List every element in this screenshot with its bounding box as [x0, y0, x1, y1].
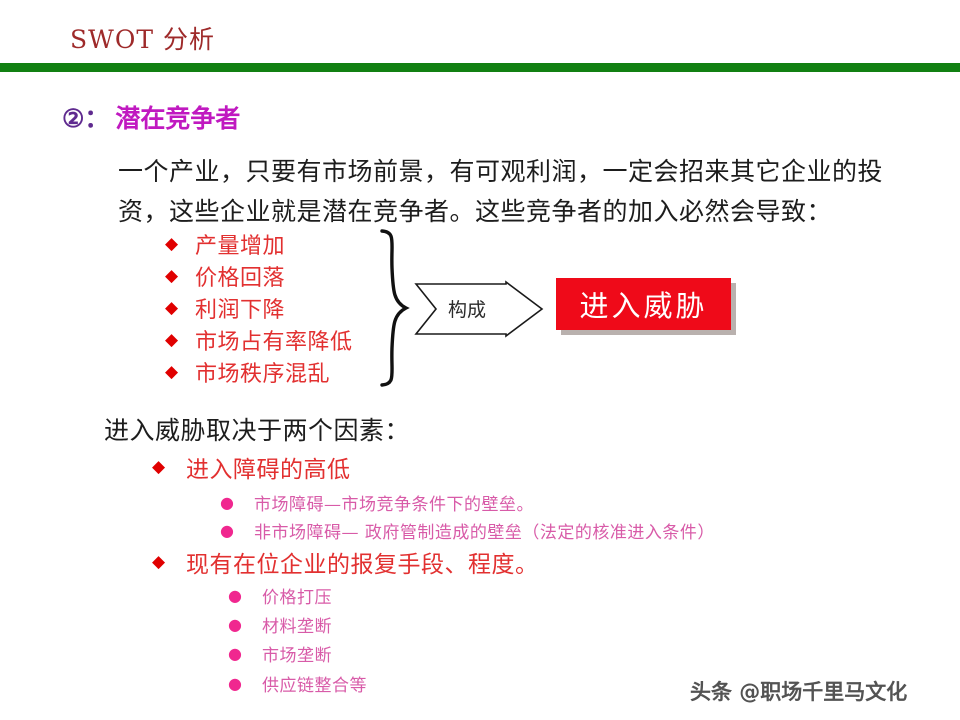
list-item: ◆ 利润下降	[165, 292, 405, 324]
list-item-label: 利润下降	[195, 292, 285, 324]
diamond-bullet-icon: ◆	[165, 332, 195, 349]
circle-bullet-icon: ●	[228, 646, 262, 662]
factor-item-label: 进入障碍的高低	[186, 450, 351, 484]
circle-bullet-icon: ●	[220, 523, 254, 539]
diamond-bullet-icon: ◆	[165, 236, 195, 253]
watermark: 头条 @职场千里马文化	[690, 676, 907, 706]
curly-brace-icon	[378, 228, 412, 388]
sub-list-item: ● 价格打压	[228, 583, 332, 608]
list-item-label: 市场占有率降低	[195, 324, 353, 356]
diamond-bullet-icon: ◆	[165, 364, 195, 381]
factor-item: ◆ 进入障碍的高低	[152, 450, 351, 484]
diamond-bullet-icon: ◆	[152, 459, 186, 476]
circle-bullet-icon: ●	[220, 495, 254, 511]
list-item-label: 产量增加	[195, 228, 285, 260]
circle-bullet-icon: ●	[228, 588, 262, 604]
sub-list-item: ● 市场垄断	[228, 641, 332, 666]
sub-list-item: ● 市场障碍—市场竞争条件下的壁垒。	[220, 490, 534, 515]
result-box-label: 进入威胁	[579, 283, 707, 325]
diamond-bullet-icon: ◆	[152, 554, 186, 571]
factors-heading: 进入威胁取决于两个因素：	[104, 411, 410, 447]
sub-list-item-label: 供应链整合等	[262, 671, 367, 696]
sub-list-item-label: 非市场障碍— 政府管制造成的壁垒（法定的核准进入条件）	[254, 518, 715, 543]
list-item: ◆ 市场占有率降低	[165, 324, 405, 356]
page-title: SWOT 分析	[70, 20, 215, 56]
consequence-list: ◆ 产量增加 ◆ 价格回落 ◆ 利润下降 ◆ 市场占有率降低 ◆ 市场秩序混乱	[165, 228, 405, 388]
sub-list-item-label: 材料垄断	[262, 612, 332, 637]
section-number: ②：	[62, 104, 109, 133]
factor-item-label: 现有在位企业的报复手段、程度。	[186, 545, 539, 579]
list-item-label: 价格回落	[195, 260, 285, 292]
intro-paragraph: 一个产业，只要有市场前景，有可观利润，一定会招来其它企业的投资，这些企业就是潜在…	[118, 152, 908, 232]
sub-list-item: ● 非市场障碍— 政府管制造成的壁垒（法定的核准进入条件）	[220, 518, 715, 543]
list-item: ◆ 产量增加	[165, 228, 405, 260]
circle-bullet-icon: ●	[228, 617, 262, 633]
diamond-bullet-icon: ◆	[165, 268, 195, 285]
sub-list-item: ● 供应链整合等	[228, 671, 367, 696]
factor-item: ◆ 现有在位企业的报复手段、程度。	[152, 545, 539, 579]
circle-bullet-icon: ●	[228, 676, 262, 692]
title-divider-rule	[0, 63, 960, 72]
sub-list-item-label: 价格打压	[262, 583, 332, 608]
flow-arrow-label: 构成	[448, 295, 486, 322]
section-title: 潜在竞争者	[115, 104, 240, 133]
sub-list-item-label: 市场垄断	[262, 641, 332, 666]
list-item: ◆ 价格回落	[165, 260, 405, 292]
sub-list-item: ● 材料垄断	[228, 612, 332, 637]
sub-list-item-label: 市场障碍—市场竞争条件下的壁垒。	[254, 490, 534, 515]
diamond-bullet-icon: ◆	[165, 300, 195, 317]
result-box: 进入威胁	[556, 278, 731, 330]
section-heading: ②：潜在竞争者	[62, 106, 240, 131]
list-item: ◆ 市场秩序混乱	[165, 356, 405, 388]
list-item-label: 市场秩序混乱	[195, 356, 330, 388]
